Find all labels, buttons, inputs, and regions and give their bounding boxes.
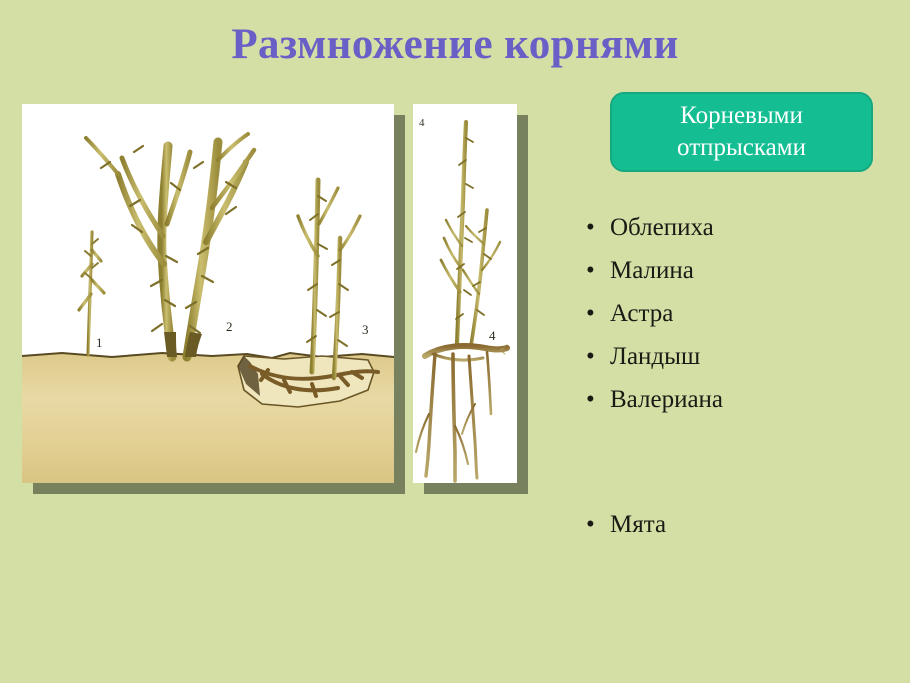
callout-line-2: отпрысками [677,132,806,164]
list-item: Малина [584,249,884,292]
list-item: Ландыш [584,335,884,378]
figure-main-illustration: 1 2 3 [22,104,394,483]
plant-list: Облепиха Малина Астра Ландыш Валериана М… [584,206,884,546]
list-item: Астра [584,292,884,335]
figure-label-2: 2 [226,319,233,334]
figure-label-3: 3 [362,322,369,337]
list-item: Облепиха [584,206,884,249]
figure-label-4: 4 [489,328,496,343]
list-item: Валериана [584,378,884,421]
page-title: Размножение корнями [0,22,910,67]
list-item: Мята [584,503,884,546]
callout-root-suckers: Корневыми отпрысками [610,92,873,172]
figure-label-1: 1 [96,335,103,350]
detached-sucker-diagram: 4 4 [413,104,517,483]
callout-line-1: Корневыми [680,100,803,132]
figure-label-corner-mark: 4 [419,117,425,129]
root-suckers-diagram: 1 2 3 [22,104,394,483]
slide: Размножение корнями [0,0,910,683]
figure-side-illustration: 4 4 [413,104,517,483]
